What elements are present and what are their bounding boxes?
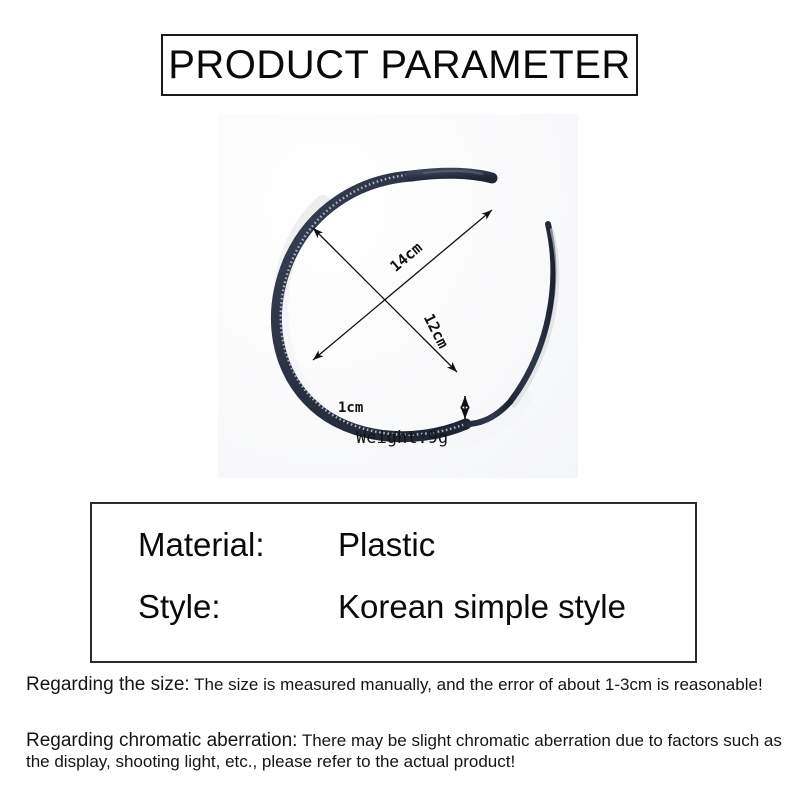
spec-value-material: Plastic <box>338 526 435 564</box>
dimension-label-1cm: 1cm <box>338 400 363 416</box>
note-size-heading: Regarding the size: <box>26 674 190 695</box>
product-weight-label: Weight:9g <box>356 428 448 448</box>
headband-illustration <box>218 114 578 478</box>
note-color-heading: Regarding chromatic aberration: <box>26 730 297 751</box>
note-size-body: The size is measured manually, and the e… <box>190 675 763 694</box>
spec-key-style: Style: <box>138 588 338 626</box>
product-parameter-title-box: PRODUCT PARAMETER <box>161 34 638 96</box>
spec-row-style: Style: Korean simple style <box>138 588 626 626</box>
spec-value-style: Korean simple style <box>338 588 626 626</box>
specification-box: Material: Plastic Style: Korean simple s… <box>90 502 697 663</box>
note-regarding-chromatic-aberration: Regarding chromatic aberration: There ma… <box>26 730 782 773</box>
spec-key-material: Material: <box>138 526 338 564</box>
note-regarding-size: Regarding the size: The size is measured… <box>26 674 782 696</box>
product-photo <box>218 114 578 478</box>
page-title: PRODUCT PARAMETER <box>168 45 631 85</box>
spec-row-material: Material: Plastic <box>138 526 435 564</box>
